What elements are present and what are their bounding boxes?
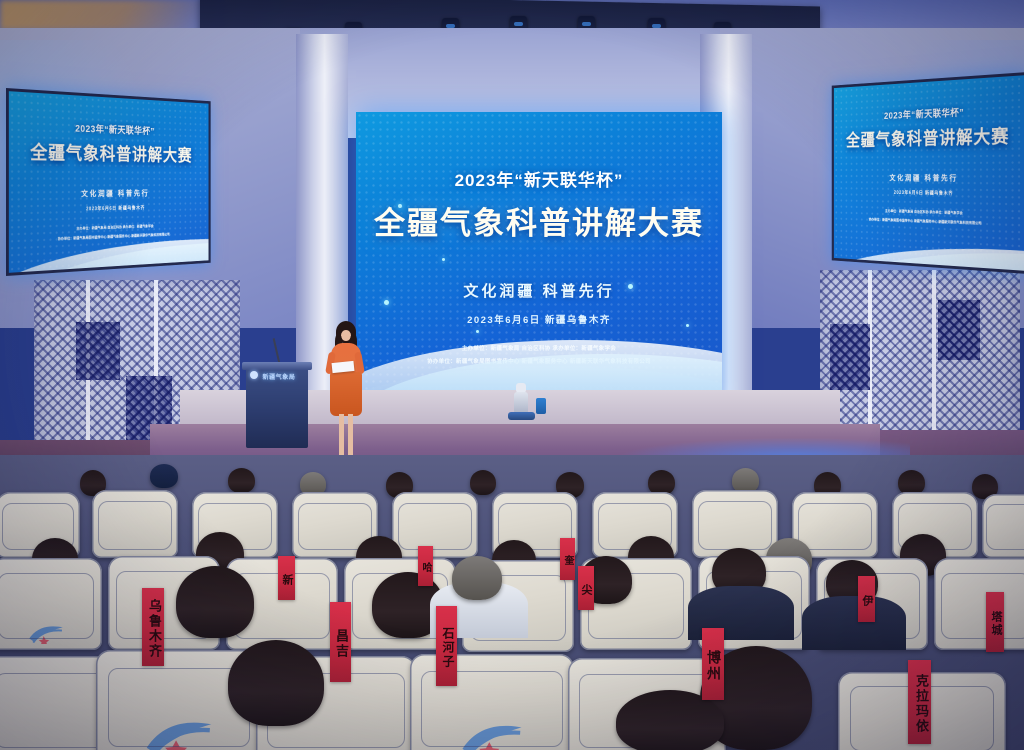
conference-hall-photo: 2023年“新天联华杯” 全疆气象科普讲解大赛 文化润疆 科普先行 2023年6…: [0, 0, 1024, 750]
audience-member: [176, 566, 254, 638]
seat-name-card: 乌鲁木齐: [142, 588, 164, 666]
screen-date-location: 2023年6月6日 新疆乌鲁木齐: [356, 312, 722, 326]
audience-member: [470, 470, 496, 495]
seat-name-card: 塔城: [986, 592, 1004, 652]
podium-label: 新疆气象局: [252, 372, 306, 381]
presenter-leg-left: [339, 414, 344, 460]
seat-name-card: 奎: [560, 538, 575, 580]
seat-name-card: 哈: [418, 546, 433, 586]
seat-name-card: 尖: [578, 566, 594, 610]
audience-member: [150, 464, 178, 488]
ceiling-warm-light: [0, 0, 200, 30]
side-led-screen-right: 2023年“新天联华杯” 全疆气象科普讲解大赛 文化润疆 科普先行 2023年6…: [832, 72, 1024, 274]
screen-slogan: 文化润疆 科普先行: [356, 280, 722, 301]
presenter-leg-right: [348, 414, 353, 460]
side-led-screen-left: 2023年“新天联华杯” 全疆气象科普讲解大赛 文化润疆 科普先行 2023年6…: [6, 88, 211, 276]
seat-brand-logo-icon: [24, 621, 69, 645]
presenter-skirt: [330, 372, 362, 416]
podium-top: [242, 362, 312, 370]
audience-member: [228, 468, 255, 493]
seat: [934, 558, 1024, 650]
audience-member-shoulders: [802, 596, 906, 650]
seat-name-card: 克拉玛依: [908, 660, 931, 744]
screen-title: 全疆气象科普讲解大赛: [356, 198, 722, 243]
seat-brand-logo-icon: [136, 714, 222, 750]
seat: [982, 494, 1024, 558]
main-led-screen: 2023年“新天联华杯” 全疆气象科普讲解大赛 文化润疆 科普先行 2023年6…: [356, 112, 722, 412]
seat: [392, 492, 478, 558]
screen-subtitle: 2023年“新天联华杯”: [356, 166, 722, 191]
stage-prop-robot: [514, 392, 528, 414]
seat: [0, 558, 102, 650]
audience-member: [228, 640, 324, 726]
seat: [410, 654, 574, 750]
seat-name-card: 石河子: [436, 606, 457, 686]
seat-name-card: 昌吉: [330, 602, 351, 682]
seat-brand-logo-icon: [451, 718, 533, 750]
side-screen-slogan: 文化润疆 科普先行: [834, 173, 1024, 184]
seat-name-card: 博州: [702, 628, 724, 700]
audience-member: [452, 556, 502, 600]
stage-prop-robot-base: [508, 412, 535, 420]
side-screen-title: 全疆气象科普讲解大赛: [9, 137, 209, 166]
seat-name-card: 伊: [858, 576, 875, 622]
stage-prop-box: [536, 398, 546, 414]
seat-name-card: 新: [278, 556, 295, 600]
seat: [92, 490, 178, 558]
